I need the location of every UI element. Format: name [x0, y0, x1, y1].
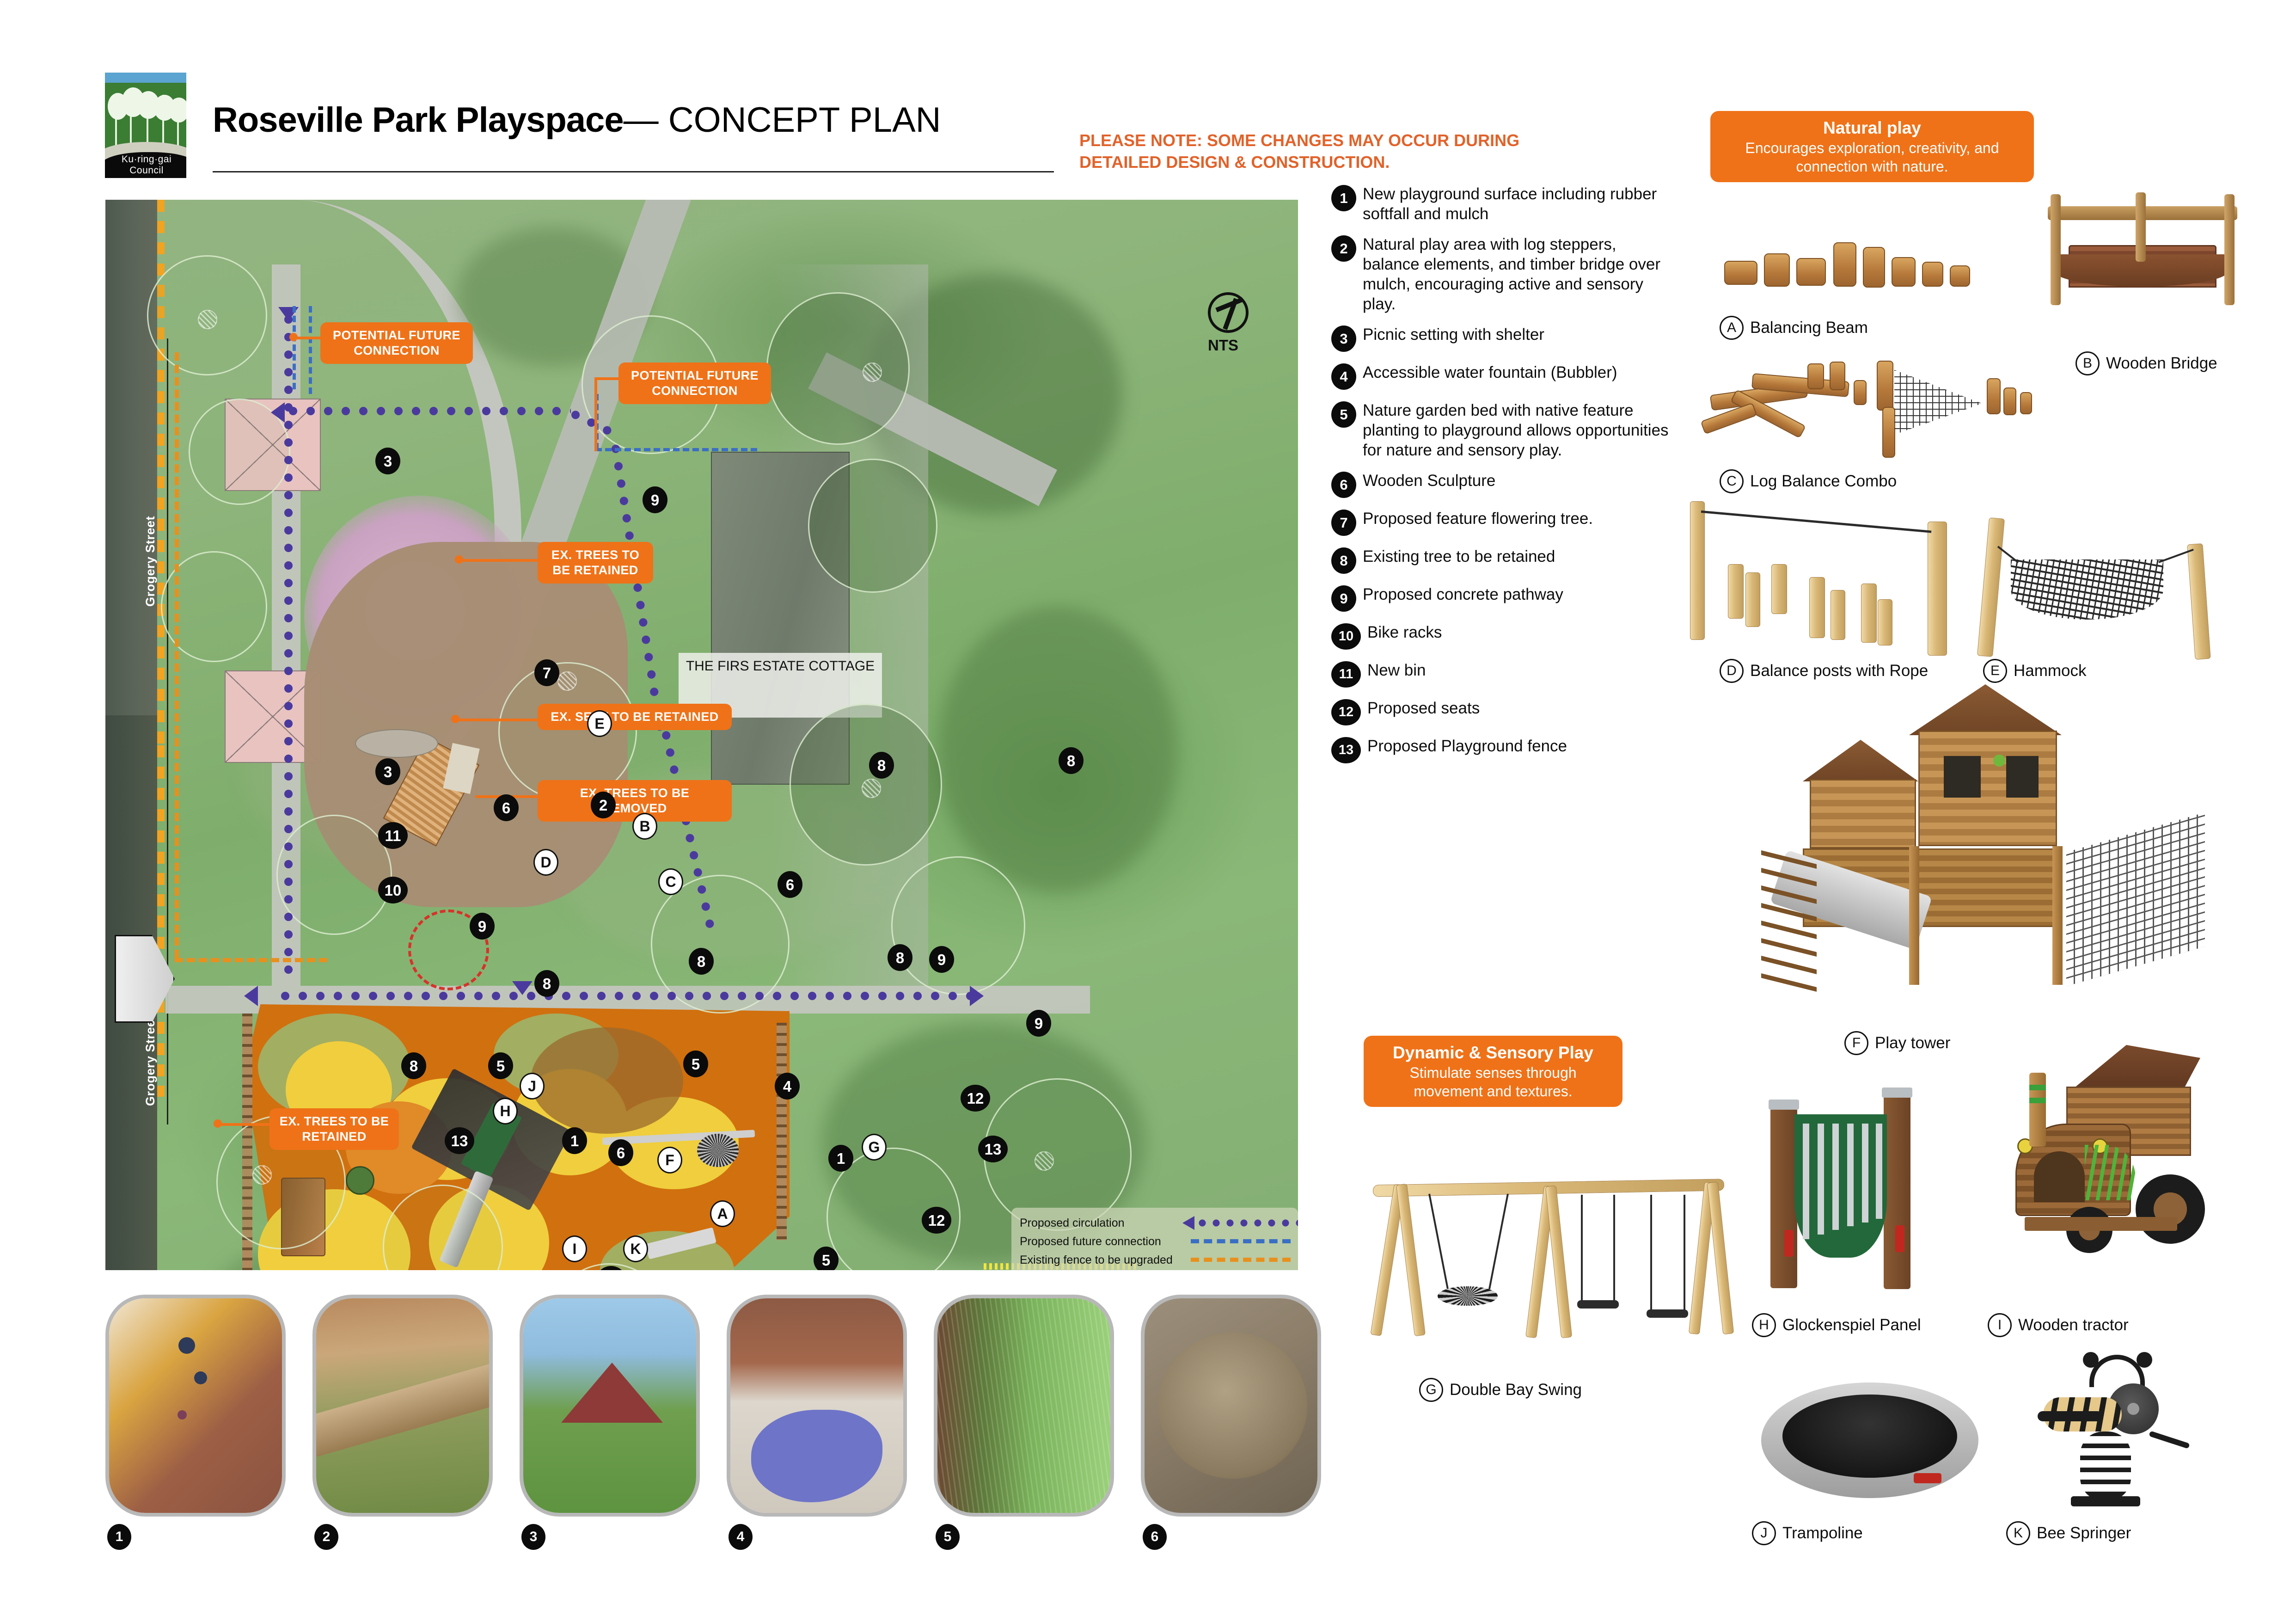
equipment-label-h: H Glockenspiel Panel — [1752, 1313, 1921, 1337]
existing-tree-marker — [1035, 1151, 1054, 1171]
equipment-key-f: F — [1844, 1031, 1868, 1055]
scale-label-nts: NTS — [1208, 337, 1238, 354]
equipment-name-h: Glockenspiel Panel — [1782, 1316, 1921, 1334]
equipment-name-k: Bee Springer — [2037, 1524, 2131, 1542]
tree-canopy — [276, 815, 392, 935]
circulation-route-horizontal — [276, 992, 970, 1000]
rock-cluster — [355, 729, 438, 758]
map-marker-h[interactable]: H — [493, 1098, 518, 1124]
legend-badge-10: 10 — [1331, 623, 1361, 650]
callout-leader-2 — [594, 377, 620, 380]
photo-image-2 — [316, 1298, 489, 1513]
callout-leader-6 — [221, 1123, 272, 1126]
mulch-zone — [531, 1027, 683, 1134]
reference-photo-3[interactable] — [520, 1295, 700, 1517]
equipment-name-e: Hammock — [2014, 662, 2087, 680]
legend-text-7: Proposed feature flowering tree. — [1363, 509, 1593, 536]
legend-badge-9: 9 — [1331, 585, 1356, 612]
legend-item-12: 12Proposed seats — [1331, 698, 1673, 725]
street-label-upper: Grogery Street — [143, 516, 158, 607]
legend-item-11: 11New bin — [1331, 660, 1673, 688]
legend-row-circulation: Proposed circulation — [1020, 1215, 1290, 1231]
equipment-key-k: K — [2006, 1521, 2030, 1545]
equipment-name-a: Balancing Beam — [1750, 319, 1868, 337]
title-underline — [213, 171, 1054, 172]
map-marker-5[interactable]: 5 — [488, 1052, 513, 1079]
equipment-label-g: G Double Bay Swing — [1419, 1378, 1582, 1402]
photo-badge-1: 1 — [107, 1524, 131, 1550]
equipment-key-b: B — [2076, 351, 2100, 375]
natural-play-subtitle: Encourages exploration, creativity, and … — [1721, 139, 2023, 176]
map-marker-f[interactable]: F — [657, 1147, 682, 1173]
dynamic-sensory-title: Dynamic & Sensory Play — [1375, 1042, 1611, 1063]
legend-item-1: 1New playground surface including rubber… — [1331, 184, 1673, 224]
legend-text-6: Wooden Sculpture — [1363, 471, 1495, 498]
existing-fence-upgraded-horizontal — [175, 958, 327, 962]
reference-photo-1[interactable] — [105, 1295, 286, 1517]
callout-leader-3 — [461, 559, 540, 562]
map-marker-8[interactable]: 8 — [888, 944, 912, 971]
map-marker-8[interactable]: 8 — [534, 970, 559, 997]
nest-swing-seat — [697, 1134, 739, 1167]
legend-badge-5: 5 — [1331, 401, 1356, 428]
future-connection-north — [293, 306, 296, 389]
map-marker-1[interactable]: 1 — [562, 1127, 587, 1154]
legend-text-1: New playground surface including rubber … — [1363, 184, 1673, 224]
wooden-bridge-illustration — [2043, 185, 2242, 324]
legend-item-9: 9Proposed concrete pathway — [1331, 584, 1673, 612]
map-marker-c[interactable]: C — [658, 868, 683, 895]
map-marker-13[interactable]: 13 — [978, 1136, 1008, 1162]
map-marker-11[interactable]: 11 — [378, 822, 408, 849]
equipment-key-h: H — [1752, 1313, 1776, 1337]
grass-blotch — [937, 607, 1178, 893]
equipment-key-a: A — [1720, 316, 1744, 340]
natural-play-title: Natural play — [1721, 117, 2023, 139]
map-marker-1[interactable]: 1 — [828, 1145, 853, 1172]
photo-image-4 — [730, 1298, 903, 1513]
circulation-route-upper — [284, 407, 571, 415]
legend-item-2: 2Natural play area with log steppers, ba… — [1331, 234, 1673, 314]
legend-text-13: Proposed Playground fence — [1367, 736, 1567, 763]
existing-tree-marker — [862, 779, 881, 798]
map-marker-9[interactable]: 9 — [643, 486, 667, 513]
circulation-arrow-left — [271, 402, 285, 423]
existing-tree-marker — [198, 310, 217, 329]
map-marker-8[interactable]: 8 — [401, 1052, 426, 1079]
map-marker-3[interactable]: 3 — [375, 448, 400, 474]
logo-line-2: Council — [105, 165, 187, 176]
legend-badge-2: 2 — [1331, 235, 1356, 262]
equipment-key-c: C — [1720, 469, 1744, 493]
equipment-name-i: Wooden tractor — [2018, 1316, 2129, 1334]
legend-badge-13: 13 — [1331, 737, 1361, 763]
map-marker-8[interactable]: 8 — [1059, 747, 1084, 774]
callout-ex-trees-retained-1[interactable]: EX. TREES TO BE RETAINED — [538, 542, 653, 584]
logo-sky-band — [105, 73, 186, 83]
existing-fence-upgraded-vertical — [175, 352, 179, 958]
log-balance-combo-illustration — [1701, 338, 2052, 462]
map-marker-j[interactable]: J — [520, 1073, 545, 1100]
circulation-arrow-down-2 — [512, 981, 533, 995]
map-marker-8[interactable]: 8 — [869, 752, 894, 779]
bee-springer-illustration — [2025, 1355, 2210, 1517]
title-subtitle: — CONCEPT PLAN — [624, 100, 941, 140]
equipment-key-i: I — [1988, 1313, 2012, 1337]
future-connection-east — [595, 448, 757, 451]
photo-badge-3: 3 — [521, 1524, 545, 1550]
legend-badge-1: 1 — [1331, 185, 1356, 211]
site-concept-map[interactable]: Grogery Street Grogery Street THE FIRS E… — [105, 200, 1298, 1270]
map-marker-e[interactable]: E — [587, 710, 612, 737]
legend-symbol-future-connection — [1191, 1234, 1290, 1249]
equipment-label-i: I Wooden tractor — [1988, 1313, 2129, 1337]
map-marker-7[interactable]: 7 — [534, 659, 559, 686]
callout-potential-future-connection-1[interactable]: POTENTIAL FUTURE CONNECTION — [320, 322, 473, 364]
legend-badge-3: 3 — [1331, 326, 1356, 352]
map-marker-3[interactable]: 3 — [375, 758, 400, 785]
dynamic-sensory-subtitle: Stimulate senses through movement and te… — [1375, 1063, 1611, 1100]
please-note-text: PLEASE NOTE: SOME CHANGES MAY OCCUR DURI… — [1079, 129, 1597, 173]
legend-item-8: 8Existing tree to be retained — [1331, 547, 1673, 574]
equipment-name-f: Play tower — [1875, 1034, 1950, 1052]
numbered-legend-list: 1New playground surface including rubber… — [1331, 184, 1673, 774]
legend-row-future-connection: Proposed future connection — [1020, 1234, 1290, 1249]
equipment-label-c: C Log Balance Combo — [1720, 469, 1897, 493]
map-marker-4[interactable]: 4 — [775, 1073, 800, 1100]
map-marker-5[interactable]: 5 — [814, 1247, 839, 1270]
reference-photo-strip: 123456 — [105, 1295, 1353, 1554]
map-marker-9[interactable]: 9 — [470, 913, 495, 940]
legend-text-11: New bin — [1367, 660, 1426, 688]
legend-text-8: Existing tree to be retained — [1363, 547, 1555, 574]
legend-item-4: 4Accessible water fountain (Bubbler) — [1331, 362, 1673, 390]
equipment-name-g: Double Bay Swing — [1450, 1381, 1582, 1399]
tree-canopy — [891, 856, 1025, 995]
callout-potential-future-connection-2[interactable]: POTENTIAL FUTURE CONNECTION — [618, 362, 771, 404]
future-connection-north-2 — [309, 306, 312, 394]
map-legend-panel: Proposed circulation Proposed future con… — [1011, 1208, 1298, 1270]
equipment-label-j: J Trampoline — [1752, 1521, 1863, 1545]
glockenspiel-panel-illustration — [1766, 1091, 1941, 1295]
cottage-label: THE FIRS ESTATE COTTAGE — [679, 657, 882, 675]
map-marker-2[interactable]: 2 — [591, 792, 616, 818]
legend-text-2: Natural play area with log steppers, bal… — [1363, 234, 1673, 314]
hammock-illustration — [1974, 513, 2223, 661]
map-marker-a[interactable]: A — [710, 1200, 735, 1227]
legend-item-3: 3Picnic setting with shelter — [1331, 325, 1673, 352]
photo-badge-5: 5 — [936, 1524, 960, 1550]
legend-text-9: Proposed concrete pathway — [1363, 584, 1563, 612]
logo-trees-icon — [108, 86, 185, 150]
legend-text-10: Bike racks — [1367, 622, 1442, 650]
map-marker-6[interactable]: 6 — [778, 871, 802, 898]
legend-badge-12: 12 — [1331, 699, 1361, 725]
existing-tree-marker — [557, 671, 577, 691]
map-marker-b[interactable]: B — [632, 813, 657, 840]
play-tower-illustration — [1710, 680, 2233, 1026]
map-marker-5[interactable]: 5 — [683, 1051, 708, 1077]
map-marker-13[interactable]: 13 — [445, 1127, 474, 1154]
legend-symbol-existing-fence — [1191, 1252, 1290, 1268]
tree-canopy-dark — [808, 459, 937, 593]
legend-item-13: 13Proposed Playground fence — [1331, 736, 1673, 763]
photo-image-6 — [1145, 1298, 1317, 1513]
equipment-key-j: J — [1752, 1521, 1776, 1545]
map-marker-k[interactable]: K — [623, 1235, 648, 1262]
balancing-beam-illustration — [1724, 231, 1983, 301]
equipment-name-c: Log Balance Combo — [1750, 472, 1897, 491]
photo-badge-6: 6 — [1143, 1524, 1167, 1550]
legend-row-existing-fence: Existing fence to be upgraded — [1020, 1252, 1290, 1268]
equipment-label-k: K Bee Springer — [2006, 1521, 2131, 1545]
equipment-label-a: A Balancing Beam — [1720, 316, 1868, 340]
equipment-label-b: B Wooden Bridge — [2076, 351, 2217, 375]
callout-leader-1 — [297, 337, 323, 339]
callout-anchor-4 — [451, 715, 459, 723]
logo-line-1: Ku·ring·gai — [105, 154, 187, 165]
legend-item-7: 7Proposed feature flowering tree. — [1331, 509, 1673, 536]
legend-badge-7: 7 — [1331, 510, 1356, 536]
callout-anchor-3 — [455, 555, 463, 564]
equipment-key-g: G — [1419, 1378, 1443, 1402]
circulation-arrow-left-2 — [244, 986, 258, 1006]
map-marker-9[interactable]: 9 — [929, 946, 954, 973]
callout-leader-2v — [594, 377, 597, 451]
existing-tree-marker — [252, 1165, 272, 1185]
map-marker-8[interactable]: 8 — [689, 948, 714, 975]
legend-badge-6: 6 — [1331, 472, 1356, 498]
equipment-label-f: F Play tower — [1844, 1031, 1950, 1055]
legend-symbol-circulation — [1191, 1215, 1290, 1231]
photo-badge-2: 2 — [314, 1524, 338, 1550]
natural-play-banner: Natural play Encourages exploration, cre… — [1710, 111, 2034, 182]
callout-ex-seat-retained[interactable]: EX. SEAT TO BE RETAINED — [538, 704, 732, 730]
callout-anchor-6 — [214, 1119, 222, 1128]
legend-text-12: Proposed seats — [1367, 698, 1480, 725]
map-marker-12[interactable]: 12 — [961, 1085, 990, 1112]
playground-fence-right — [777, 1023, 787, 1240]
legend-text-3: Picnic setting with shelter — [1363, 325, 1544, 352]
double-bay-swing-illustration — [1354, 1165, 1733, 1359]
map-marker-9[interactable]: 9 — [1026, 1010, 1051, 1037]
photo-image-1 — [109, 1298, 282, 1513]
photo-image-5 — [937, 1298, 1110, 1513]
legend-badge-8: 8 — [1331, 547, 1356, 574]
logo-wordmark: Ku·ring·gai Council — [105, 154, 187, 176]
existing-tree-marker — [863, 362, 882, 382]
kerb-yellow-dashes-lower — [157, 745, 165, 1097]
map-marker-10[interactable]: 10 — [378, 877, 408, 903]
street-label-lower: Grogery Street — [143, 1015, 158, 1106]
legend-text-5: Nature garden bed with native feature pl… — [1363, 400, 1673, 460]
callout-ex-trees-removed[interactable]: EX. TREES TO BE REMOVED — [538, 780, 732, 822]
reference-photo-2[interactable] — [312, 1295, 493, 1517]
callout-anchor-1 — [289, 333, 298, 341]
wooden-tractor-illustration — [1997, 1040, 2219, 1290]
reference-photo-5[interactable] — [934, 1295, 1114, 1517]
circulation-arrow-right — [970, 986, 984, 1006]
equipment-name-d: Balance posts with Rope — [1750, 662, 1928, 680]
north-arrow-icon — [1208, 292, 1249, 333]
trampoline-illustration — [1761, 1382, 1978, 1507]
dynamic-sensory-banner: Dynamic & Sensory Play Stimulate senses … — [1364, 1036, 1623, 1107]
photo-image-3 — [523, 1298, 696, 1513]
title-main: Roseville Park Playspace — [213, 100, 624, 140]
tree-canopy-dark — [766, 292, 910, 445]
map-marker-6[interactable]: 6 — [494, 794, 519, 821]
page-title: Roseville Park Playspace— CONCEPT PLAN — [213, 102, 1059, 139]
photo-badge-4: 4 — [729, 1524, 753, 1550]
reference-photo-4[interactable] — [727, 1295, 907, 1517]
legend-badge-4: 4 — [1331, 363, 1356, 390]
callout-ex-trees-retained-2[interactable]: EX. TREES TO BE RETAINED — [269, 1108, 399, 1150]
equipment-name-j: Trampoline — [1782, 1524, 1863, 1542]
balance-posts-rope-illustration — [1687, 499, 1974, 652]
legend-item-5: 5Nature garden bed with native feature p… — [1331, 400, 1673, 460]
council-logo: Ku·ring·gai Council — [104, 72, 187, 179]
trampoline-structure — [346, 1166, 374, 1195]
map-marker-i[interactable]: I — [562, 1235, 587, 1262]
map-marker-12[interactable]: 12 — [922, 1207, 951, 1234]
reference-photo-6[interactable] — [1141, 1295, 1321, 1517]
callout-leader-4 — [458, 719, 540, 721]
map-marker-g[interactable]: G — [862, 1134, 887, 1161]
map-marker-6[interactable]: 6 — [608, 1139, 633, 1166]
legend-label-existing-fence: Existing fence to be upgraded — [1020, 1253, 1191, 1267]
legend-item-10: 10Bike racks — [1331, 622, 1673, 650]
legend-item-6: 6Wooden Sculpture — [1331, 471, 1673, 498]
legend-text-4: Accessible water fountain (Bubbler) — [1363, 362, 1617, 390]
legend-badge-11: 11 — [1331, 661, 1361, 688]
legend-label-future-connection: Proposed future connection — [1020, 1235, 1191, 1248]
map-marker-d[interactable]: D — [533, 849, 558, 876]
legend-label-circulation: Proposed circulation — [1020, 1216, 1191, 1230]
equipment-name-b: Wooden Bridge — [2106, 354, 2217, 373]
